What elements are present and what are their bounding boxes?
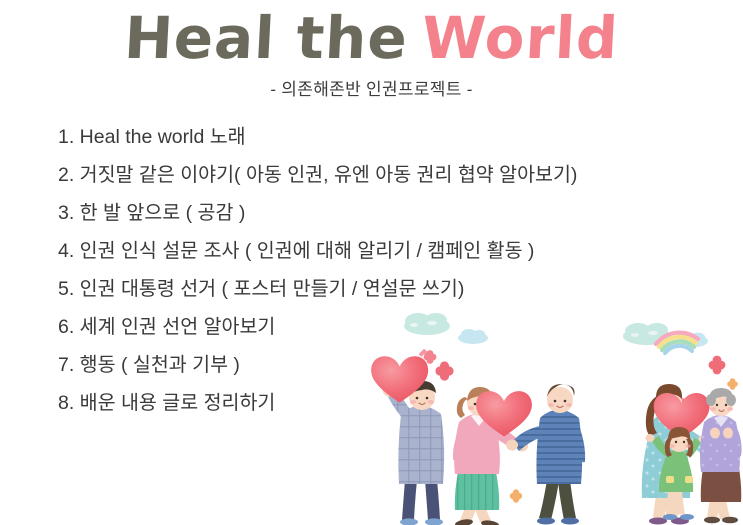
page-subtitle: - 의존해존반 인권프로젝트 - [0,75,743,100]
figure-child-green-dress [646,427,708,520]
list-item: 8. 배운 내용 글로 정리하기 [58,394,718,432]
list-item: 2. 거짓말 같은 이야기( 아동 인권, 유엔 아동 권리 협약 알아보기) [58,166,718,204]
flower-sparkle-icon [727,378,738,390]
activity-list: 1. Heal the world 노래 2. 거짓말 같은 이야기( 아동 인… [58,128,718,432]
title-part-heal-the: Heal the [123,4,410,72]
list-item: 7. 행동 ( 실천과 기부 ) [58,356,718,394]
page-title: Heal theWorld [0,8,743,69]
flower-sparkle-icon [510,489,522,502]
list-item: 1. Heal the world 노래 [58,128,718,166]
list-item: 3. 한 발 앞으로 ( 공감 ) [58,204,718,242]
title-block: Heal theWorld - 의존해존반 인권프로젝트 - [0,8,743,100]
list-item: 5. 인권 대통령 선거 ( 포스터 만들기 / 연설문 쓰기) [58,280,718,318]
list-item: 6. 세계 인권 선언 알아보기 [58,318,718,356]
slide-canvas: Heal theWorld - 의존해존반 인권프로젝트 - 1. Heal t… [0,0,743,525]
list-item: 4. 인권 인식 설문 조사 ( 인권에 대해 알리기 / 캠페인 활동 ) [58,242,718,280]
title-part-world: World [420,4,620,72]
